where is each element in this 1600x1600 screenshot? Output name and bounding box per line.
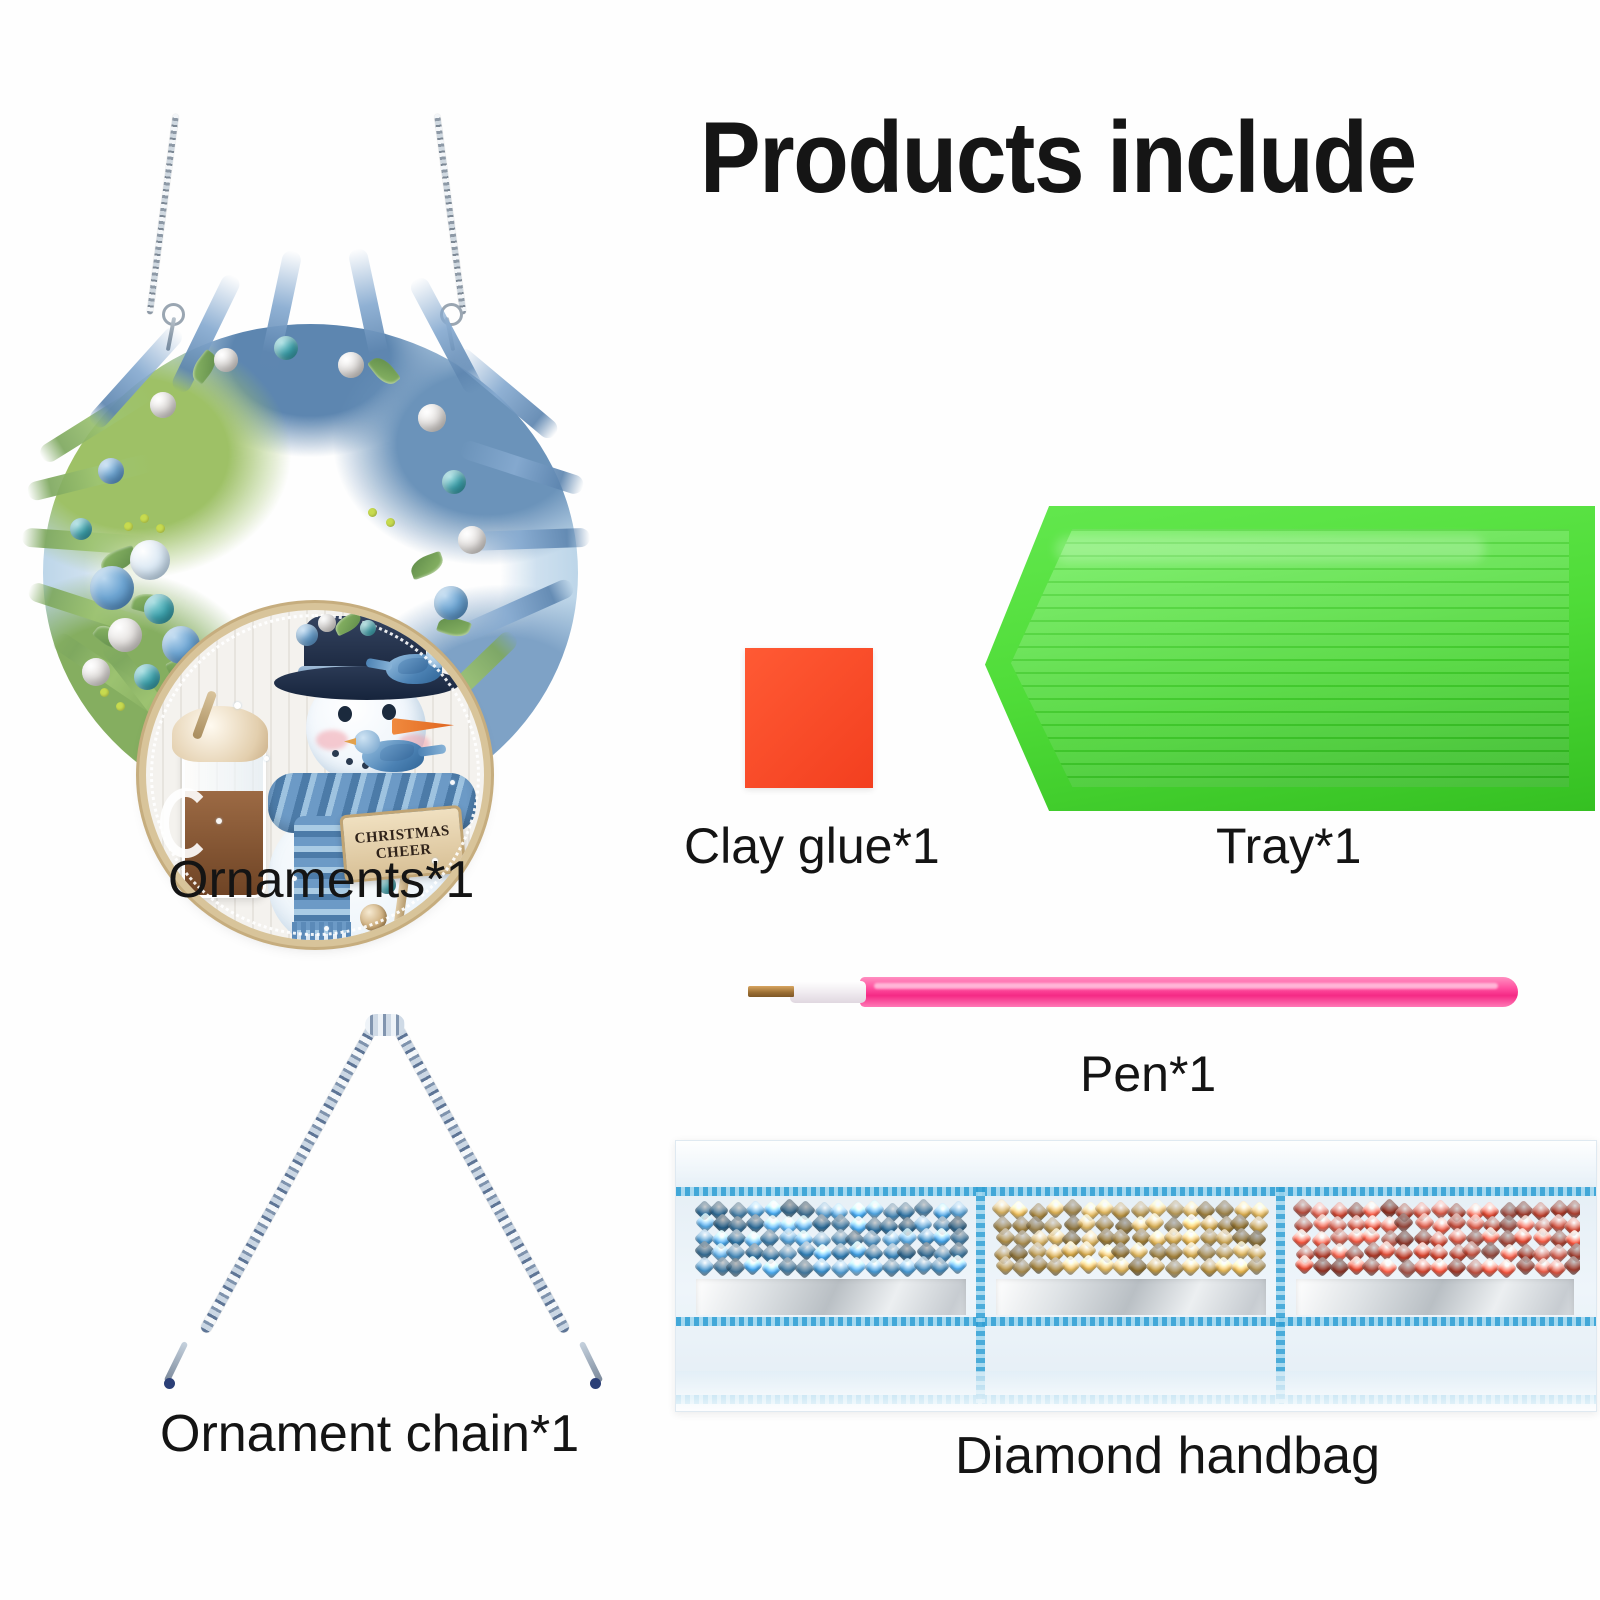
gem-cluster-gold bbox=[990, 1201, 1272, 1275]
wreath-ball bbox=[90, 566, 134, 610]
gem-cluster-blue bbox=[690, 1201, 972, 1275]
berry bbox=[386, 518, 395, 527]
pen-barrel bbox=[860, 977, 1518, 1007]
rhinestone bbox=[1060, 1255, 1081, 1276]
wreath-pearl bbox=[338, 352, 364, 378]
snow-dot bbox=[404, 916, 410, 922]
bag-compartment-blue bbox=[690, 1193, 972, 1315]
berry bbox=[116, 702, 125, 711]
page-title: Products include bbox=[700, 104, 1492, 212]
snowman-mouth-dot bbox=[332, 750, 339, 757]
wreath-disc: CHRISTMAS CHEER bbox=[38, 318, 583, 828]
foil-packet bbox=[996, 1279, 1266, 1315]
rhinestone bbox=[947, 1254, 968, 1275]
snowman-scarf-fringe bbox=[292, 922, 354, 940]
tray-caption: Tray*1 bbox=[1216, 818, 1361, 874]
bird-head bbox=[426, 646, 450, 668]
snowman-cheek-left bbox=[316, 730, 348, 750]
wreath-pearl bbox=[108, 618, 142, 652]
wreath-ball bbox=[130, 540, 170, 580]
tray-highlight bbox=[1055, 536, 1485, 562]
hanging-chain-right bbox=[434, 114, 466, 315]
rhinestone bbox=[1446, 1257, 1467, 1278]
wreath-ball bbox=[70, 518, 92, 540]
wreath-ball bbox=[144, 594, 174, 624]
hat-decor-pearl bbox=[318, 614, 336, 632]
mug-handle bbox=[160, 788, 212, 858]
berry bbox=[100, 688, 109, 697]
ornament-product-image: CHRISTMAS CHEER bbox=[30, 96, 590, 826]
rhinestone bbox=[1180, 1255, 1201, 1276]
bag-compartment-gold bbox=[990, 1193, 1272, 1315]
diamond-handbag-product-image bbox=[675, 1140, 1597, 1412]
wreath-pearl bbox=[150, 392, 176, 418]
hat-decor-ball bbox=[296, 624, 318, 646]
bag-compartment-red bbox=[1290, 1193, 1580, 1315]
berry bbox=[124, 522, 133, 531]
diamond-handbag-caption: Diamond handbag bbox=[955, 1428, 1380, 1484]
pen-product-image bbox=[748, 975, 1518, 1009]
chain-end-left bbox=[164, 1341, 189, 1383]
snow-dot bbox=[216, 818, 222, 824]
wreath-ball bbox=[442, 470, 466, 494]
wreath-ball bbox=[134, 664, 160, 690]
snow-dot bbox=[324, 926, 329, 931]
berry bbox=[140, 514, 149, 523]
rhinestone bbox=[1496, 1258, 1517, 1279]
wreath-pearl bbox=[418, 404, 446, 432]
wreath-pearl bbox=[458, 526, 486, 554]
chain-apex bbox=[365, 1014, 405, 1036]
pen-caption: Pen*1 bbox=[1080, 1046, 1216, 1102]
snow-dot bbox=[234, 702, 241, 709]
bird-head bbox=[354, 730, 380, 754]
rhinestone bbox=[1126, 1256, 1147, 1277]
rhinestone bbox=[845, 1256, 866, 1277]
snowman-eye-left bbox=[338, 706, 352, 722]
chain-pin-right bbox=[590, 1378, 601, 1389]
bag-top-seal bbox=[676, 1141, 1596, 1185]
wreath-ball bbox=[274, 336, 298, 360]
whipped-cream bbox=[172, 706, 268, 762]
rhinestone bbox=[1515, 1255, 1536, 1276]
wreath-pearl bbox=[214, 348, 238, 372]
hat-decor-ball bbox=[360, 620, 376, 636]
berry bbox=[156, 524, 165, 533]
snow-dot bbox=[450, 780, 455, 785]
tray-inner-grooves bbox=[1011, 529, 1569, 787]
chain-pin-left bbox=[164, 1378, 175, 1389]
rhinestone bbox=[1545, 1258, 1566, 1279]
pen-highlight bbox=[874, 983, 1498, 989]
rhinestone bbox=[1562, 1255, 1580, 1276]
snowman-eye-right bbox=[382, 704, 396, 720]
pen-ferrule bbox=[790, 981, 866, 1003]
snowman-mouth-dot bbox=[346, 758, 353, 765]
hanging-chain-left bbox=[147, 114, 179, 315]
ornament-chain-caption: Ornament chain*1 bbox=[160, 1406, 579, 1462]
snow-dot bbox=[264, 756, 269, 761]
bag-bottom-seal bbox=[676, 1371, 1596, 1411]
wreath-pearl bbox=[82, 658, 110, 686]
infographic-page: Products include bbox=[0, 0, 1600, 1600]
foil-packet bbox=[1296, 1279, 1574, 1315]
foil-packet bbox=[696, 1279, 966, 1315]
wreath-ball bbox=[98, 458, 124, 484]
clay-glue-caption: Clay glue*1 bbox=[684, 818, 940, 874]
tray-product-image bbox=[985, 506, 1595, 811]
chain-end-right bbox=[579, 1341, 604, 1383]
gem-cluster-red bbox=[1290, 1201, 1580, 1275]
ornament-chain-product-image bbox=[150, 1010, 620, 1400]
clay-glue-product-image bbox=[745, 648, 873, 788]
ornaments-caption: Ornaments*1 bbox=[168, 852, 474, 908]
bag-zipper-middle bbox=[676, 1317, 1596, 1326]
rhinestone bbox=[1377, 1257, 1398, 1278]
berry bbox=[368, 508, 377, 517]
chain-leg-left bbox=[199, 1021, 379, 1334]
wreath-ball bbox=[434, 586, 468, 620]
rhinestone bbox=[1145, 1256, 1166, 1277]
pen-metal-tip bbox=[748, 986, 794, 997]
chain-leg-right bbox=[391, 1021, 571, 1334]
rhinestone bbox=[811, 1257, 832, 1278]
